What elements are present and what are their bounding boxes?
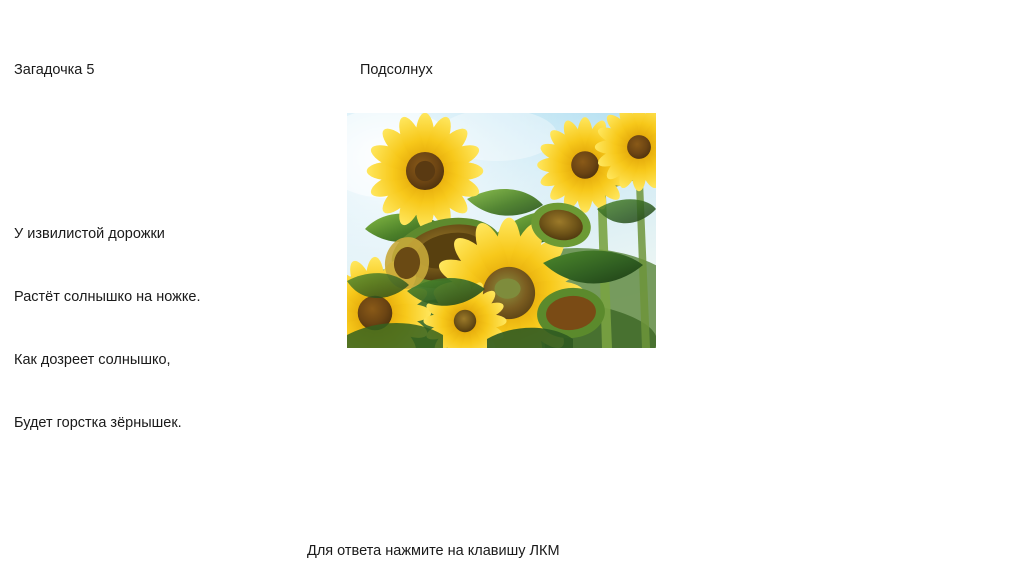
slide-canvas: Загадочка 5 Подсолнух У извилистой дорож… bbox=[0, 0, 1024, 574]
verse-line: У извилистой дорожки bbox=[14, 224, 200, 245]
verse-line: Будет горстка зёрнышек. bbox=[14, 413, 200, 434]
verse-line: Как дозреет солнышко, bbox=[14, 350, 200, 371]
sunflower-photo-graphic bbox=[347, 113, 656, 348]
page-title: Загадочка 5 bbox=[14, 61, 94, 79]
sunflower-photo bbox=[347, 113, 656, 348]
answer-label: Подсолнух bbox=[360, 61, 433, 79]
verse-line: Растёт солнышко на ножке. bbox=[14, 287, 200, 308]
footer-instruction: Для ответа нажмите на клавишу ЛКМ bbox=[307, 542, 560, 561]
riddle-verse: У извилистой дорожки Растёт солнышко на … bbox=[14, 182, 200, 476]
